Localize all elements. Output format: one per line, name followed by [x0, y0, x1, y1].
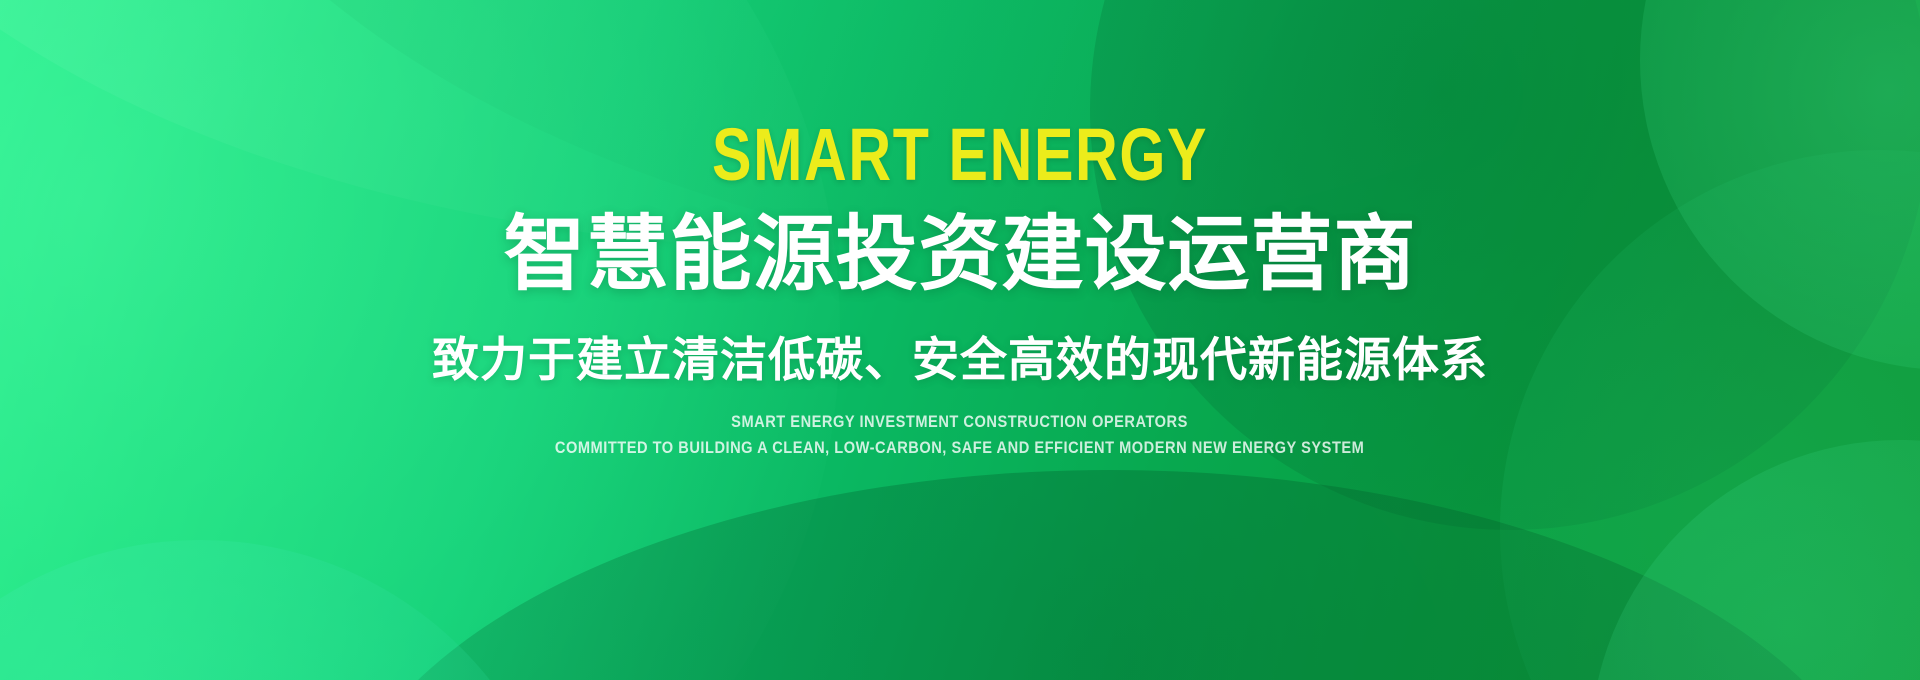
- banner-caption-line-1: SMART ENERGY INVESTMENT CONSTRUCTION OPE…: [732, 413, 1189, 432]
- banner-title-english: SMART ENERGY: [712, 118, 1208, 192]
- banner-caption-group: SMART ENERGY INVESTMENT CONSTRUCTION OPE…: [489, 413, 1430, 457]
- hero-banner: SMART ENERGY 智慧能源投资建设运营商 致力于建立清洁低碳、安全高效的…: [0, 0, 1920, 680]
- banner-content: SMART ENERGY 智慧能源投资建设运营商 致力于建立清洁低碳、安全高效的…: [0, 0, 1920, 680]
- banner-title-chinese: 智慧能源投资建设运营商: [503, 212, 1416, 299]
- banner-caption-line-2: COMMITTED TO BUILDING A CLEAN, LOW-CARBO…: [555, 439, 1364, 458]
- banner-subtitle-chinese: 致力于建立清洁低碳、安全高效的现代新能源体系: [432, 333, 1488, 387]
